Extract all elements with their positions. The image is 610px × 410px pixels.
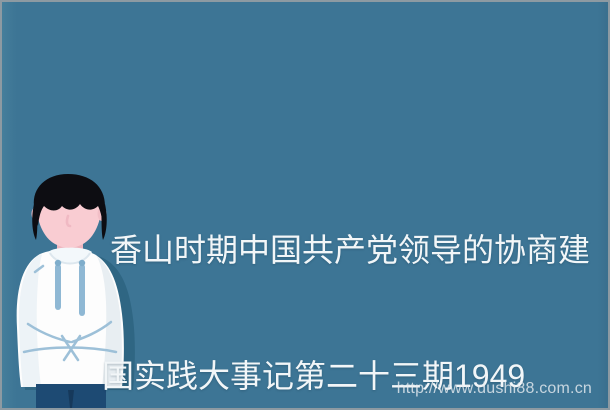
cover-image: 香山时期中国共产党领导的协商建 国实践大事记第二十三期1949 http://w… [0, 0, 610, 410]
title-line-1: 香山时期中国共产党领导的协商建 [102, 229, 602, 271]
page-title: 香山时期中国共产党领导的协商建 国实践大事记第二十三期1949 [102, 145, 602, 410]
pants [36, 384, 106, 408]
watermark-url: http://www.dushi88.com.cn [397, 379, 592, 398]
